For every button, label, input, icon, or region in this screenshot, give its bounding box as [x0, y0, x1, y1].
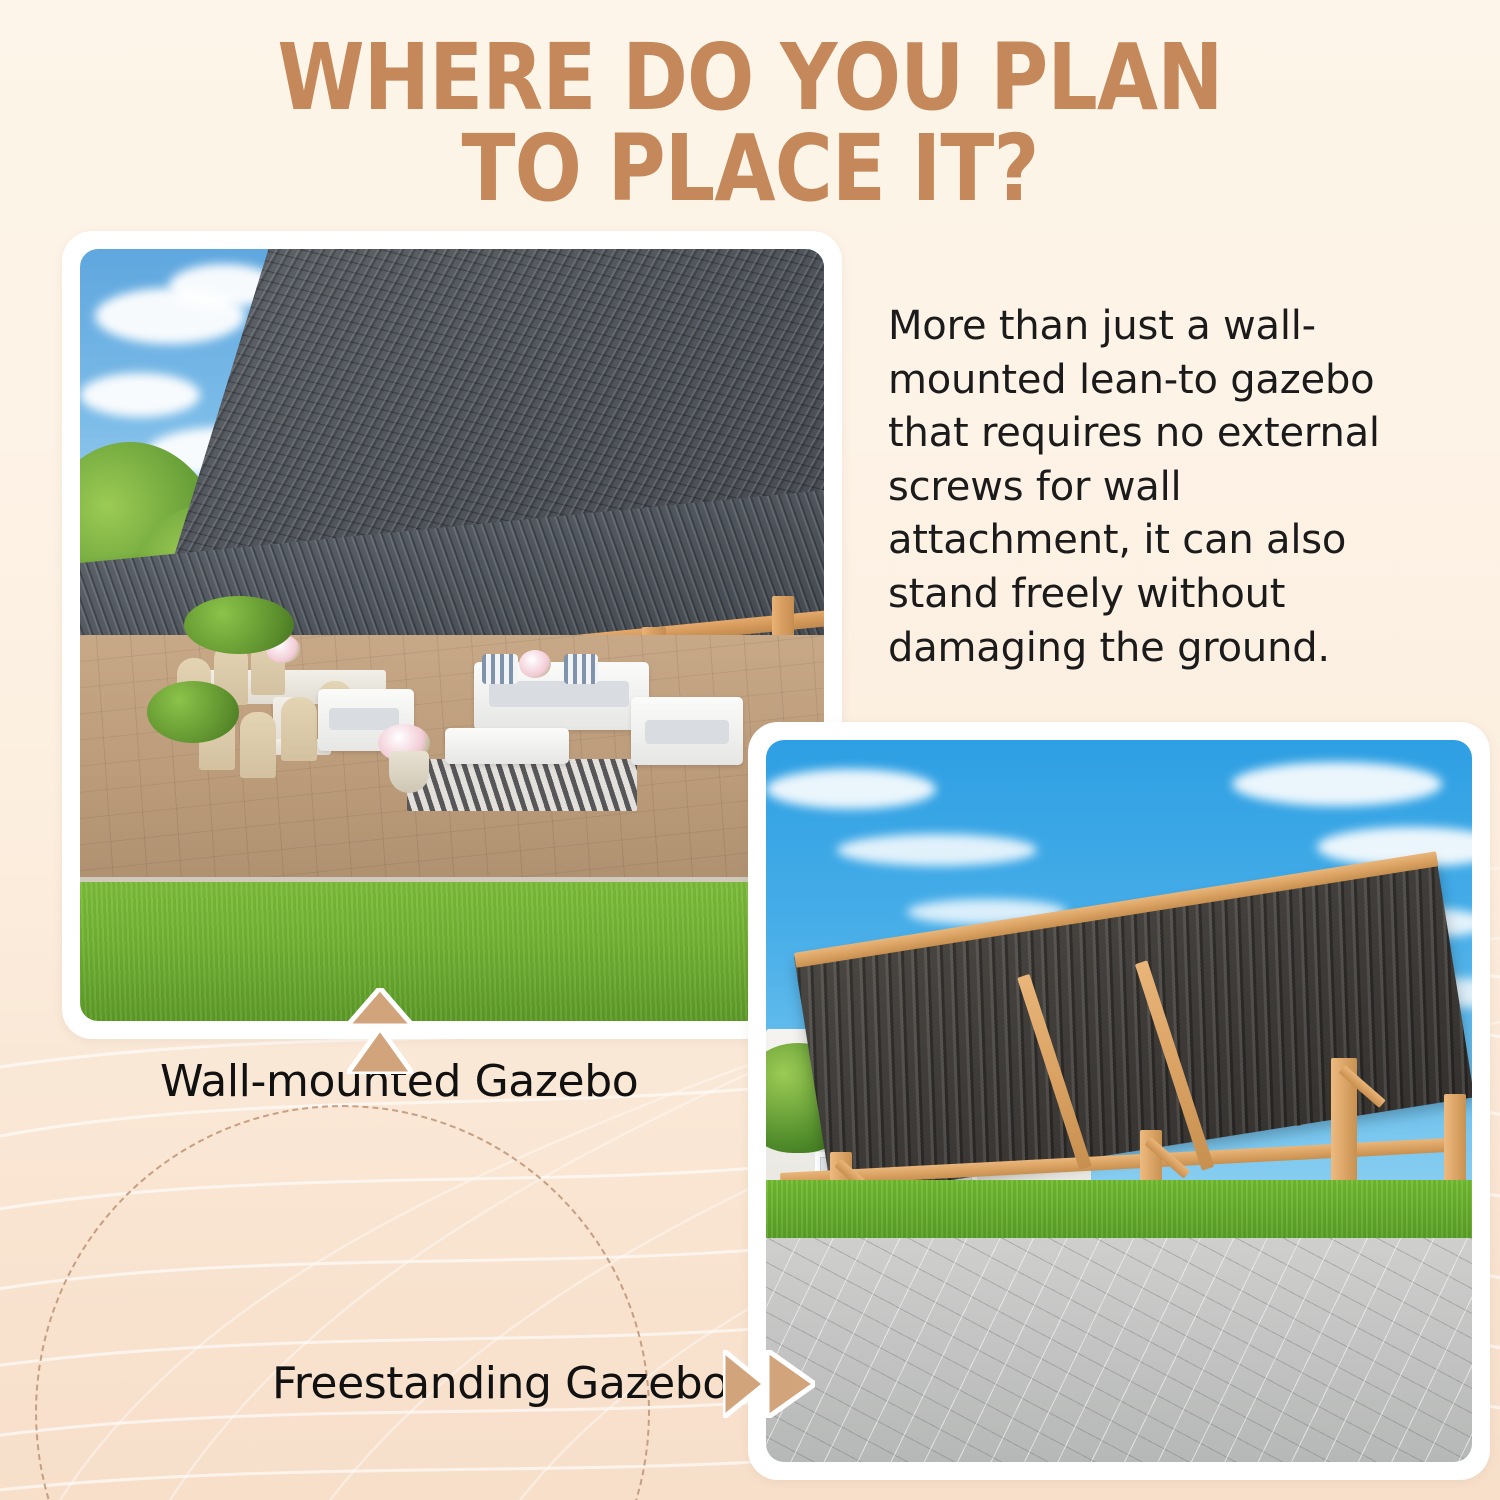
dining-chair: [281, 697, 317, 761]
shrub: [147, 681, 239, 743]
striped-pillow: [564, 654, 598, 684]
caption-freestanding-gazebo: Freestanding Gazebo: [272, 1358, 729, 1409]
description-paragraph: More than just a wall-mounted lean-to ga…: [888, 300, 1408, 675]
dining-chair: [240, 712, 276, 778]
double-chevron-right-arrow: [723, 1350, 815, 1418]
sofa-cushion: [489, 681, 629, 707]
cloud: [1232, 762, 1442, 806]
lounge-cushion: [645, 720, 729, 744]
flower-pot: [389, 751, 429, 793]
infographic-poster: WHERE DO YOU PLAN TO PLACE IT?: [0, 0, 1500, 1500]
page-title-line-1: WHERE DO YOU PLAN: [182, 34, 1317, 121]
wall-mounted-gazebo-photo: [80, 249, 824, 1021]
cloud: [766, 769, 936, 809]
double-chevron-up-arrow: [347, 988, 413, 1074]
outdoor-rug: [407, 759, 637, 811]
page-title-line-2: TO PLACE IT?: [182, 125, 1317, 212]
freestanding-gazebo-photo: [766, 740, 1472, 1462]
dashed-circle-decoration: [35, 1105, 650, 1500]
striped-pillow: [482, 654, 518, 684]
freestanding-gazebo-photo-frame: [748, 722, 1490, 1480]
wall-mounted-gazebo-photo-frame: [62, 231, 842, 1039]
lawn: [80, 882, 824, 1021]
coffee-table: [445, 728, 569, 764]
cloud: [80, 373, 200, 417]
page-title: WHERE DO YOU PLAN TO PLACE IT?: [0, 34, 1500, 213]
cloud: [837, 834, 1037, 866]
paver-patio: [766, 1238, 1472, 1462]
